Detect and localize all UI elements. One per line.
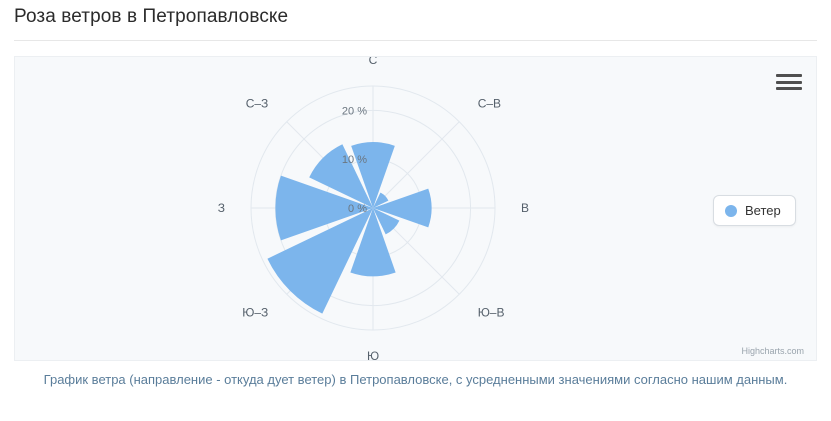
direction-label-3: Ю–В [478, 306, 505, 320]
direction-label-5: Ю–З [242, 306, 268, 320]
radial-tick-20: 20 % [342, 105, 367, 117]
radial-tick-10: 10 % [342, 154, 367, 166]
wind-rose-page: Роза ветров в Петропавловске Highcharts.… [0, 0, 831, 421]
title-divider [14, 40, 817, 41]
page-title: Роза ветров в Петропавловске [14, 6, 288, 28]
direction-label-0: С [369, 57, 378, 67]
polar-wedges [267, 142, 431, 313]
direction-label-4: Ю [367, 349, 379, 362]
direction-label-7: С–З [246, 96, 269, 110]
chart-container: Highcharts.com 0 %10 %20 % СС–ВВЮ–ВЮЮ–ЗЗ… [14, 56, 817, 361]
direction-label-2: В [521, 201, 529, 215]
legend-marker-icon [725, 205, 737, 217]
radial-tick-0: 0 % [348, 203, 367, 215]
direction-label-6: З [218, 201, 225, 215]
legend-item-wind[interactable]: Ветер [713, 195, 796, 226]
wind-rose-plot: 0 %10 %20 % СС–ВВЮ–ВЮЮ–ЗЗС–З [15, 57, 818, 362]
legend-label: Ветер [745, 203, 781, 218]
direction-label-1: С–В [478, 96, 501, 110]
chart-caption: График ветра (направление - откуда дует … [24, 370, 807, 390]
